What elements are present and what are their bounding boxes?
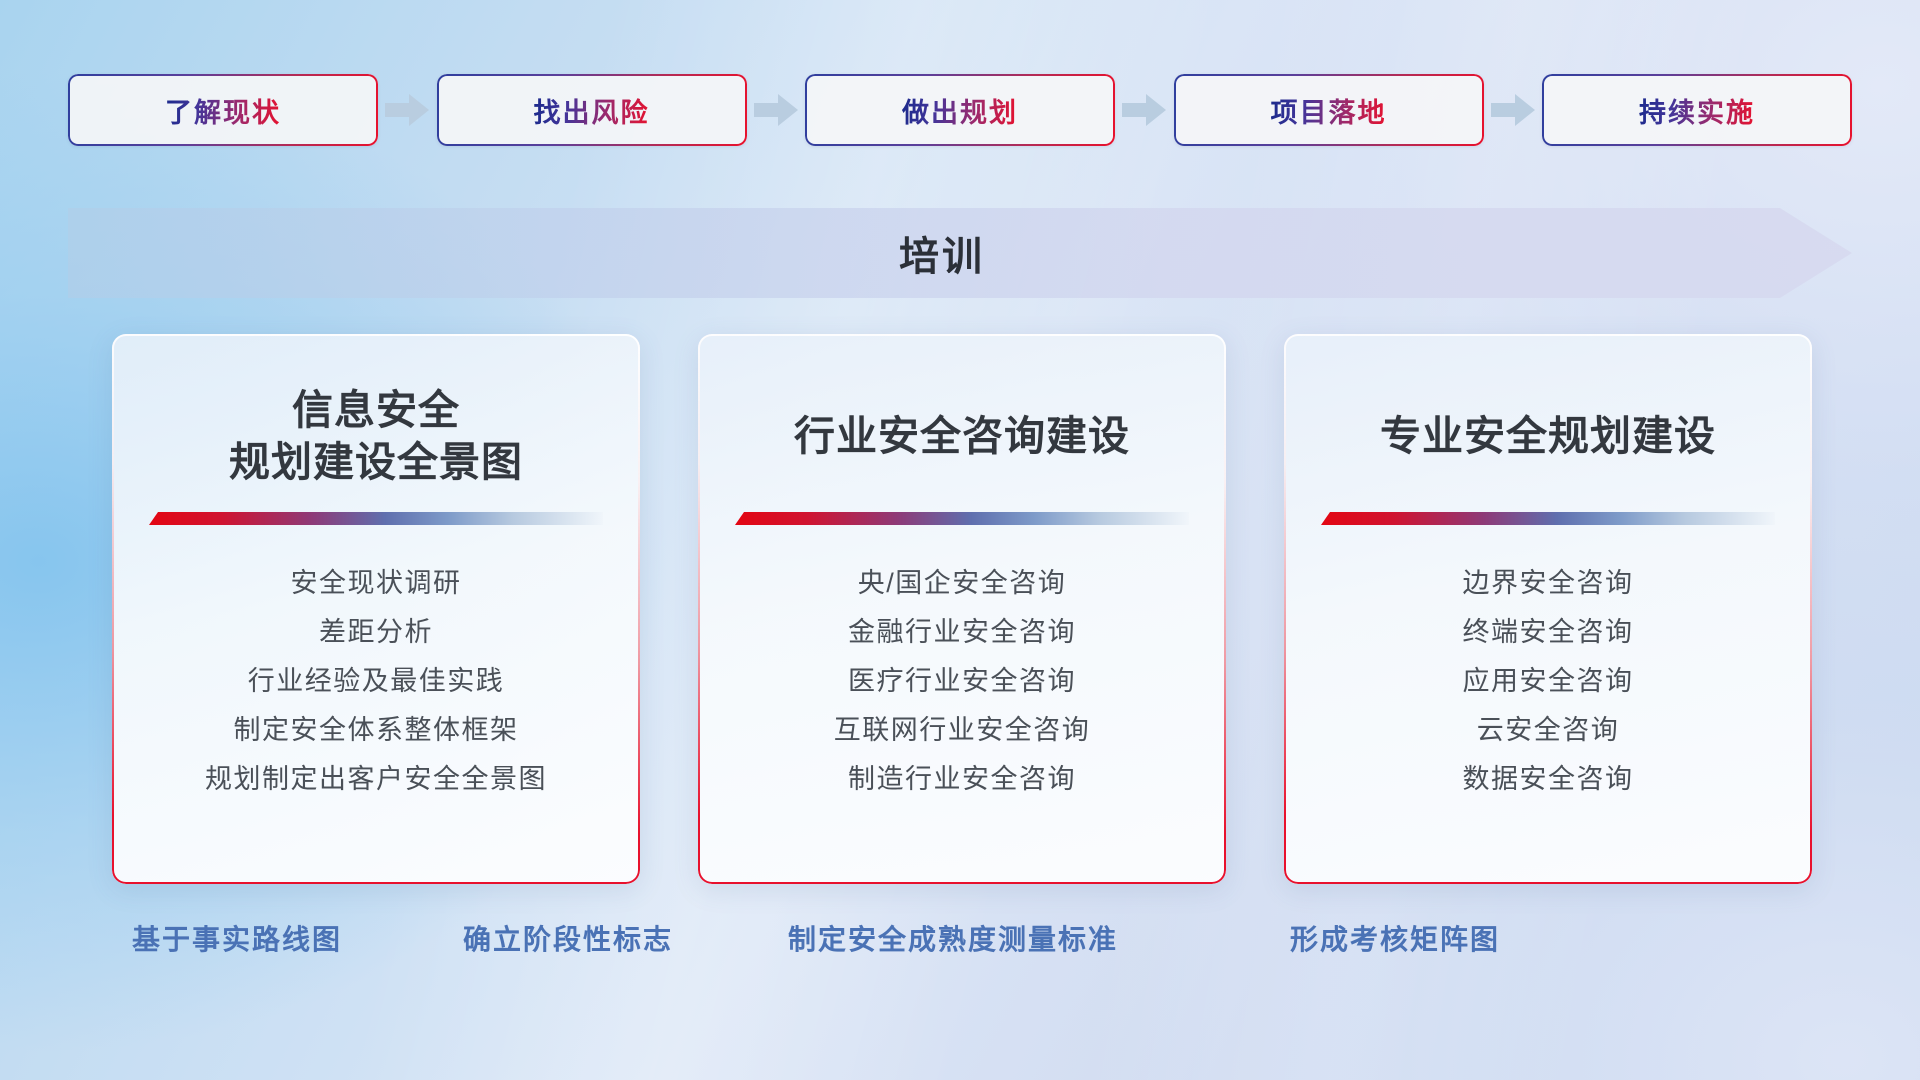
card-list-item: 数据安全咨询 bbox=[1314, 755, 1782, 804]
card-professional-planning[interactable]: 专业安全规划建设 边界安全咨询 终端安全咨询 应用安全咨询 云安全咨询 数据安全… bbox=[1284, 334, 1812, 884]
card-list-item: 安全现状调研 bbox=[142, 559, 610, 608]
card-list-item: 制定安全体系整体框架 bbox=[142, 706, 610, 755]
card-list-item: 医疗行业安全咨询 bbox=[728, 657, 1196, 706]
card-title: 专业安全规划建设 bbox=[1380, 382, 1716, 490]
process-step-4[interactable]: 项目落地 bbox=[1174, 74, 1484, 146]
process-step-2[interactable]: 找出风险 bbox=[437, 74, 747, 146]
process-step-label: 持续实施 bbox=[1639, 91, 1755, 130]
process-step-1[interactable]: 了解现状 bbox=[68, 74, 378, 146]
card-list-item: 金融行业安全咨询 bbox=[728, 608, 1196, 657]
card-list-item: 终端安全咨询 bbox=[1314, 608, 1782, 657]
card-item-list: 央/国企安全咨询 金融行业安全咨询 医疗行业安全咨询 互联网行业安全咨询 制造行… bbox=[728, 559, 1196, 804]
card-title: 信息安全 规划建设全景图 bbox=[229, 382, 523, 490]
card-list-item: 制造行业安全咨询 bbox=[728, 755, 1196, 804]
caption-roadmap: 基于事实路线图 bbox=[132, 918, 342, 958]
process-step-label: 做出规划 bbox=[902, 91, 1018, 130]
caption-matrix: 形成考核矩阵图 bbox=[1290, 918, 1500, 958]
card-industry-consulting[interactable]: 行业安全咨询建设 央/国企安全咨询 金融行业安全咨询 医疗行业安全咨询 互联网行… bbox=[698, 334, 1226, 884]
process-step-row: 了解现状 找出风险 做出规划 项目落地 持续实施 bbox=[68, 74, 1852, 146]
caption-maturity: 制定安全成熟度测量标准 bbox=[788, 918, 1118, 958]
card-panorama[interactable]: 信息安全 规划建设全景图 安全现状调研 差距分析 行业经验及最佳实践 制定安全体… bbox=[112, 334, 640, 884]
card-divider-rule bbox=[1321, 512, 1775, 525]
caption-milestone: 确立阶段性标志 bbox=[463, 918, 673, 958]
process-step-label: 了解现状 bbox=[165, 91, 281, 130]
card-list-item: 规划制定出客户安全全景图 bbox=[142, 755, 610, 804]
caption-row: 基于事实路线图 确立阶段性标志 制定安全成熟度测量标准 形成考核矩阵图 bbox=[0, 918, 1920, 970]
training-banner: 培训 bbox=[68, 208, 1852, 298]
card-list-item: 云安全咨询 bbox=[1314, 706, 1782, 755]
card-row: 信息安全 规划建设全景图 安全现状调研 差距分析 行业经验及最佳实践 制定安全体… bbox=[112, 334, 1812, 884]
card-divider-rule bbox=[149, 512, 603, 525]
card-list-item: 应用安全咨询 bbox=[1314, 657, 1782, 706]
card-list-item: 边界安全咨询 bbox=[1314, 559, 1782, 608]
card-divider-rule bbox=[735, 512, 1189, 525]
card-list-item: 互联网行业安全咨询 bbox=[728, 706, 1196, 755]
process-step-label: 找出风险 bbox=[534, 91, 650, 130]
card-list-item: 差距分析 bbox=[142, 608, 610, 657]
card-list-item: 央/国企安全咨询 bbox=[728, 559, 1196, 608]
process-step-5[interactable]: 持续实施 bbox=[1542, 74, 1852, 146]
right-arrow-icon bbox=[1491, 94, 1535, 126]
process-step-label: 项目落地 bbox=[1271, 91, 1387, 130]
card-title: 行业安全咨询建设 bbox=[794, 382, 1130, 490]
card-list-item: 行业经验及最佳实践 bbox=[142, 657, 610, 706]
right-arrow-icon bbox=[1122, 94, 1166, 126]
card-item-list: 边界安全咨询 终端安全咨询 应用安全咨询 云安全咨询 数据安全咨询 bbox=[1314, 559, 1782, 804]
process-step-3[interactable]: 做出规划 bbox=[805, 74, 1115, 146]
training-banner-title: 培训 bbox=[68, 208, 1852, 298]
slide-canvas: 了解现状 找出风险 做出规划 项目落地 持续实施 培训 bbox=[0, 0, 1920, 1080]
right-arrow-icon bbox=[754, 94, 798, 126]
card-item-list: 安全现状调研 差距分析 行业经验及最佳实践 制定安全体系整体框架 规划制定出客户… bbox=[142, 559, 610, 804]
right-arrow-icon bbox=[385, 94, 429, 126]
